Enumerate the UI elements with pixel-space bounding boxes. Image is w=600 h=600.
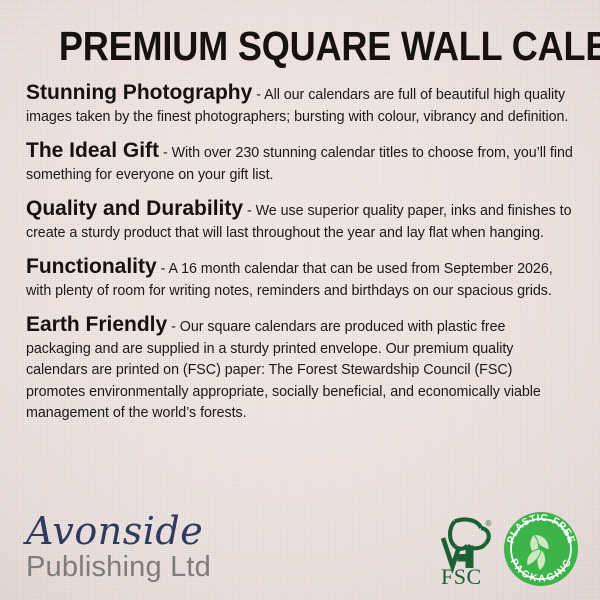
fsc-tree-checkmark-icon: ® FSC [440, 514, 498, 586]
fsc-logo: ® FSC [440, 514, 498, 586]
brand-subtitle: Publishing Ltd [26, 551, 211, 584]
feature-separator: - [243, 203, 256, 219]
feature-section-functionality: Functionality - A 16 month calendar that… [26, 256, 574, 302]
feature-section-earth-friendly: Earth Friendly - Our square calendars ar… [26, 314, 574, 425]
feature-heading: Functionality [26, 255, 157, 278]
feature-section-stunning-photography: Stunning Photography - All our calendars… [26, 82, 574, 128]
brand-logo: Avonside Publishing Ltd [26, 511, 211, 590]
feature-section-quality-and-durability: Quality and Durability - We use superior… [26, 198, 574, 244]
certification-badges: ® FSC [440, 512, 578, 590]
footer: Avonside Publishing Ltd ® FSC [26, 511, 578, 590]
feature-separator: - [159, 145, 172, 161]
page-title: PREMIUM SQUARE WALL CALENDARS [59, 0, 541, 68]
feature-separator: - [157, 261, 169, 277]
feature-heading: The Ideal Gift [26, 139, 159, 162]
svg-text:FSC: FSC [441, 564, 482, 586]
leaves-icon: PLASTIC-FREE PACKAGING [504, 512, 578, 586]
feature-section-the-ideal-gift: The Ideal Gift - With over 230 stunning … [26, 140, 574, 186]
svg-text:®: ® [486, 519, 492, 528]
feature-paragraph: Earth Friendly - Our square calendars ar… [26, 314, 574, 425]
feature-heading: Stunning Photography [26, 81, 252, 104]
plastic-free-packaging-badge: PLASTIC-FREE PACKAGING [504, 512, 578, 586]
brand-name: Avonside [26, 511, 211, 551]
feature-paragraph: Functionality - A 16 month calendar that… [26, 256, 574, 302]
feature-separator: - [167, 319, 180, 335]
feature-heading: Earth Friendly [26, 313, 167, 336]
feature-separator: - [252, 87, 264, 103]
feature-paragraph: Stunning Photography - All our calendars… [26, 82, 574, 128]
feature-paragraph: The Ideal Gift - With over 230 stunning … [26, 140, 574, 186]
feature-heading: Quality and Durability [26, 197, 243, 220]
feature-sections: Stunning Photography - All our calendars… [26, 82, 574, 425]
poster-page: PREMIUM SQUARE WALL CALENDARS Stunning P… [0, 0, 600, 600]
poster-content: PREMIUM SQUARE WALL CALENDARS Stunning P… [0, 0, 600, 425]
feature-paragraph: Quality and Durability - We use superior… [26, 198, 574, 244]
